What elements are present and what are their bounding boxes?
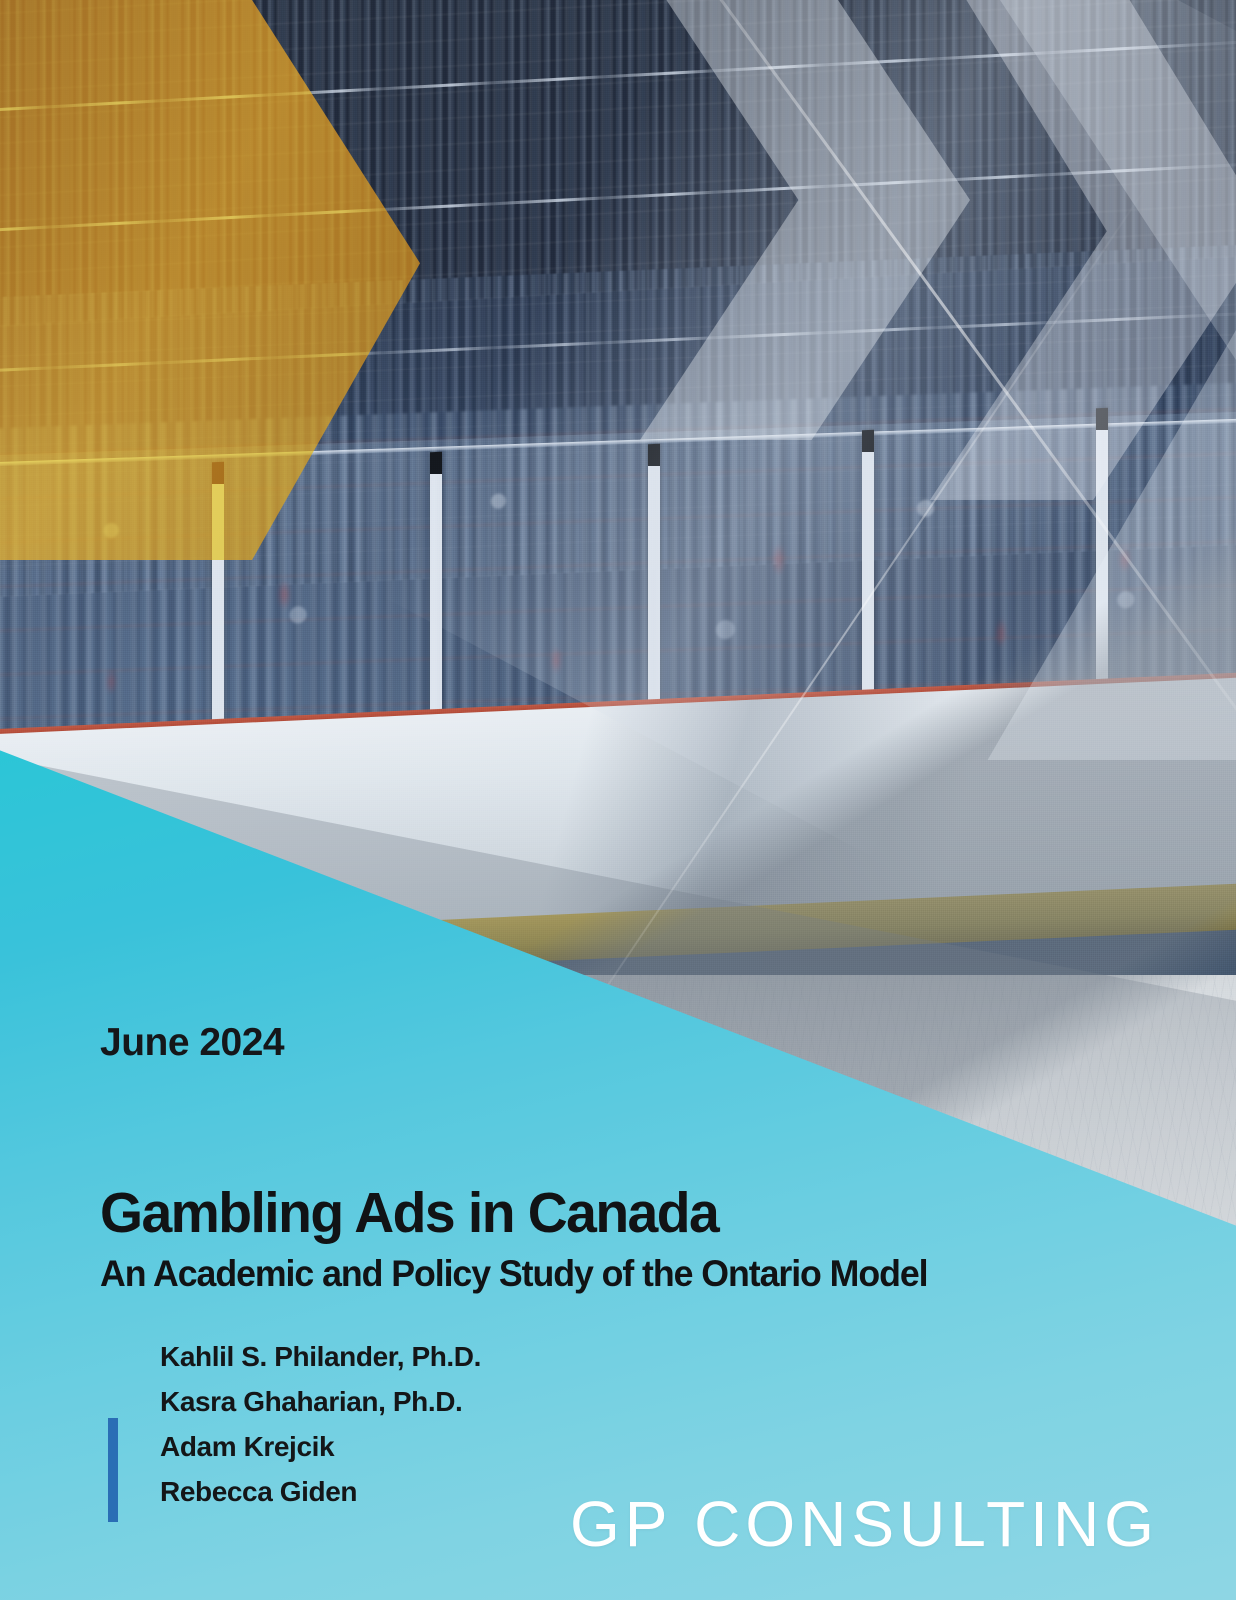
- author-name: Kasra Ghaharian, Ph.D.: [160, 1379, 481, 1424]
- author-name: Kahlil S. Philander, Ph.D.: [160, 1334, 481, 1379]
- author-name: Adam Krejcik: [160, 1424, 481, 1469]
- report-subtitle: An Academic and Policy Study of the Onta…: [100, 1253, 928, 1295]
- publisher-logo: GP CONSULTING: [570, 1487, 1159, 1561]
- author-list: Kahlil S. Philander, Ph.D. Kasra Ghahari…: [160, 1334, 481, 1514]
- publication-date: June 2024: [100, 1021, 284, 1065]
- author-accent-bar: [108, 1418, 118, 1522]
- author-name: Rebecca Giden: [160, 1469, 481, 1514]
- report-title: Gambling Ads in Canada: [100, 1180, 718, 1246]
- report-cover-page: June 2024 Gambling Ads in Canada An Acad…: [0, 0, 1236, 1600]
